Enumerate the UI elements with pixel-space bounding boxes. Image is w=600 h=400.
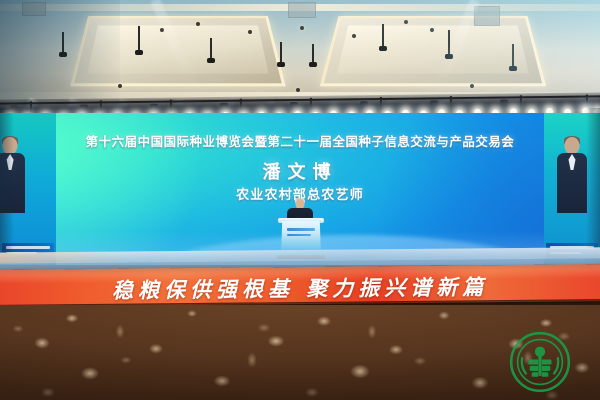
stage-spotlight-housing [360,101,368,110]
stage-spotlight-housing [290,102,298,111]
speaker-name: 潘文博 [0,158,600,184]
event-title: 第十六届中国国际种业博览会暨第二十一届全国种子信息交流与产品交易会 [0,132,600,150]
right-wall-shadow [586,108,600,268]
stage-spotlight-housing [500,99,508,108]
stage-spotlight-housing [220,103,228,112]
left-wall-shadow [0,108,14,268]
stage-spotlight-housing [150,104,158,113]
podium-front-text [287,228,315,239]
head [565,137,580,154]
agriculture-seed-association-logo [508,330,572,394]
right-panel-speaker-image [557,137,587,229]
stage-spotlight-housing [430,100,438,109]
conference-stage-photo: 第十六届中国国际种业博览会暨第二十一届全国种子信息交流与产品交易会 潘文博 农业… [0,0,600,400]
